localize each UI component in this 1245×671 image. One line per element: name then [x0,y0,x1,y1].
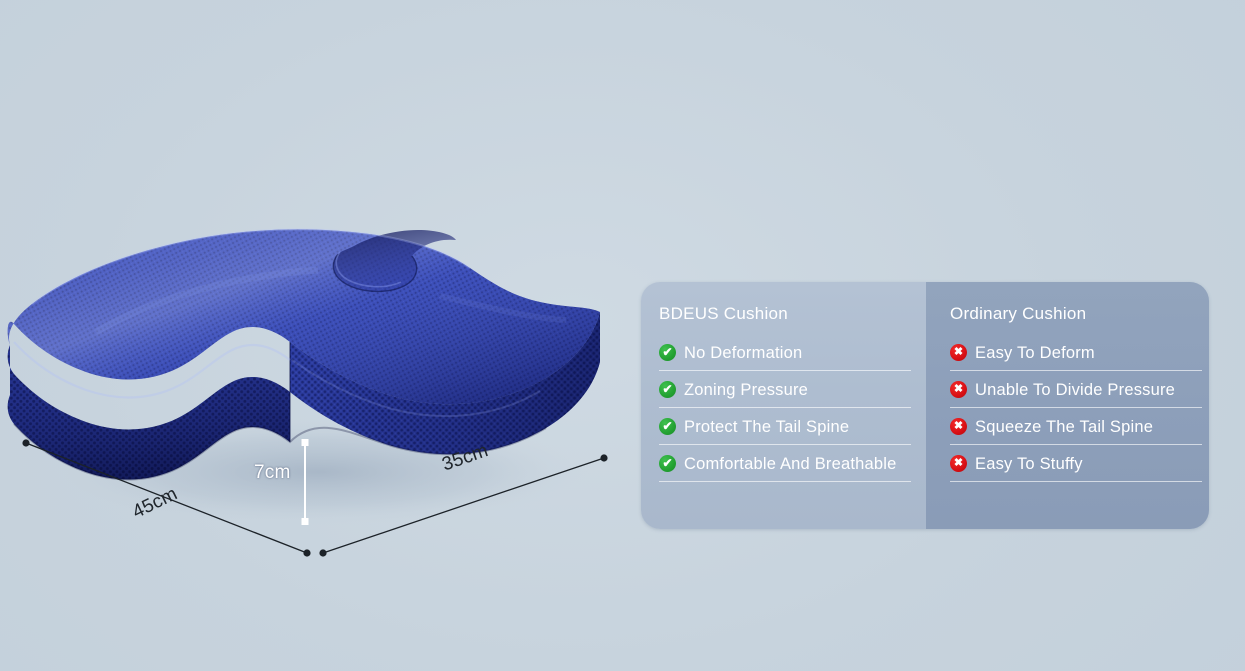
feature-list-bdeus: ✔ No Deformation ✔ Zoning Pressure ✔ Pro… [641,334,931,482]
feature-label: Unable To Divide Pressure [975,380,1175,400]
list-item: ✖ Easy To Deform [950,334,1209,371]
x-glyph: ✖ [950,455,967,472]
check-glyph: ✔ [659,455,676,472]
x-glyph: ✖ [950,344,967,361]
feature-label: Squeeze The Tail Spine [975,417,1153,437]
infographic-canvas: 45cm 35cm 7cm BDEUS Cushion ✔ No Deforma… [0,0,1245,671]
check-glyph: ✔ [659,381,676,398]
check-circle-icon: ✔ [659,418,676,435]
check-glyph: ✔ [659,344,676,361]
column-title-bdeus: BDEUS Cushion [659,303,931,325]
feature-label: Easy To Deform [975,343,1095,363]
x-circle-icon: ✖ [950,418,967,435]
check-circle-icon: ✔ [659,381,676,398]
x-glyph: ✖ [950,381,967,398]
list-item: ✔ Protect The Tail Spine [659,408,931,445]
feature-list-ordinary: ✖ Easy To Deform ✖ Unable To Divide Pres… [926,334,1209,482]
x-circle-icon: ✖ [950,344,967,361]
feature-label: Comfortable And Breathable [684,454,897,474]
check-circle-icon: ✔ [659,344,676,361]
x-circle-icon: ✖ [950,455,967,472]
comparison-column-ordinary: Ordinary Cushion ✖ Easy To Deform ✖ Unab… [926,282,1209,529]
list-item: ✔ No Deformation [659,334,931,371]
comparison-column-bdeus: BDEUS Cushion ✔ No Deformation ✔ Zoning … [641,282,931,529]
check-circle-icon: ✔ [659,455,676,472]
list-item: ✖ Squeeze The Tail Spine [950,408,1209,445]
comparison-panel: BDEUS Cushion ✔ No Deformation ✔ Zoning … [641,282,1209,529]
x-glyph: ✖ [950,418,967,435]
column-title-ordinary: Ordinary Cushion [950,303,1209,325]
product-image [0,150,640,590]
check-glyph: ✔ [659,418,676,435]
feature-label: No Deformation [684,343,802,363]
feature-label: Zoning Pressure [684,380,808,400]
list-item: ✖ Easy To Stuffy [950,445,1209,482]
x-circle-icon: ✖ [950,381,967,398]
list-item: ✖ Unable To Divide Pressure [950,371,1209,408]
list-item: ✔ Zoning Pressure [659,371,931,408]
feature-label: Easy To Stuffy [975,454,1083,474]
feature-label: Protect The Tail Spine [684,417,849,437]
list-item: ✔ Comfortable And Breathable [659,445,931,482]
